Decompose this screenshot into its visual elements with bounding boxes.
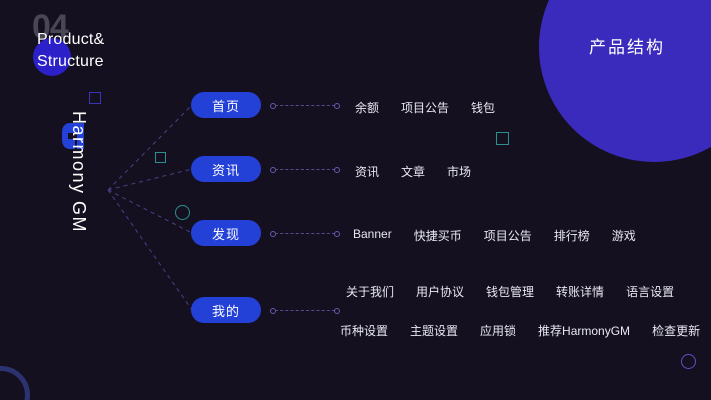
leaf-item[interactable]: Banner — [353, 227, 392, 244]
leaf-item[interactable]: 用户协议 — [416, 283, 464, 300]
section-heading: Product& Structure — [37, 29, 104, 73]
leaf-item[interactable]: 币种设置 — [340, 322, 388, 339]
leaf-item[interactable]: 游戏 — [612, 227, 636, 244]
connector-dot-end — [334, 308, 340, 314]
leaf-item[interactable]: 市场 — [447, 163, 471, 180]
tree-node-mine[interactable]: 我的 — [191, 297, 261, 323]
leaf-item[interactable]: 检查更新 — [652, 322, 700, 339]
leaf-item[interactable]: 资讯 — [355, 163, 379, 180]
square-outline-decoration-blue — [89, 92, 101, 104]
connector-news — [270, 165, 340, 174]
leaf-item[interactable]: 快捷买币 — [414, 227, 462, 244]
connector-dash — [275, 233, 335, 234]
leaf-item[interactable]: 应用锁 — [480, 322, 516, 339]
leaf-item[interactable]: 余额 — [355, 99, 379, 116]
leaf-item[interactable]: 钱包管理 — [486, 283, 534, 300]
leaf-row-home: 余额 项目公告 钱包 — [355, 99, 495, 116]
circle-outline-decoration-teal — [175, 205, 190, 220]
square-outline-decoration-teal-right — [496, 132, 509, 145]
connector-dash — [275, 169, 335, 170]
connector-dash — [275, 310, 335, 311]
leaf-item[interactable]: 主题设置 — [410, 322, 458, 339]
connector-discover — [270, 229, 340, 238]
connector-dot-end — [334, 231, 340, 237]
leaf-item[interactable]: 项目公告 — [484, 227, 532, 244]
square-outline-decoration-teal-left — [155, 152, 166, 163]
connector-dot-end — [334, 167, 340, 173]
leaf-item[interactable]: 文章 — [401, 163, 425, 180]
section-heading-line-2: Structure — [37, 51, 104, 73]
connector-home — [270, 101, 340, 110]
slide-canvas: 04 Product& Structure 产品结构 Harmony GM 首页… — [0, 0, 711, 400]
connector-dash — [275, 105, 335, 106]
tree-node-news[interactable]: 资讯 — [191, 156, 261, 182]
leaf-row-news: 资讯 文章 市场 — [355, 163, 471, 180]
leaf-item[interactable]: 语言设置 — [626, 283, 674, 300]
leaf-item[interactable]: 排行榜 — [554, 227, 590, 244]
slide-title: 产品结构 — [589, 33, 665, 58]
leaf-item[interactable]: 转账详情 — [556, 283, 604, 300]
connector-mine — [270, 306, 340, 315]
brand-name: Harmony GM — [68, 97, 89, 247]
circle-outline-decoration-bottom-right — [681, 354, 696, 369]
tree-node-discover[interactable]: 发现 — [191, 220, 261, 246]
leaf-item[interactable]: 关于我们 — [346, 283, 394, 300]
leaf-item[interactable]: 钱包 — [471, 99, 495, 116]
leaf-row-mine-line-2: 币种设置 主题设置 应用锁 推荐HarmonyGM 检查更新 — [340, 322, 700, 339]
circle-outline-decoration-bottom-left — [0, 366, 30, 400]
leaf-item[interactable]: 项目公告 — [401, 99, 449, 116]
connector-dot-end — [334, 103, 340, 109]
section-heading-line-1: Product& — [37, 29, 104, 51]
tree-node-home[interactable]: 首页 — [191, 92, 261, 118]
purple-blob-decoration — [539, 0, 711, 162]
leaf-row-mine-line-1: 关于我们 用户协议 钱包管理 转账详情 语言设置 — [346, 283, 674, 300]
leaf-item[interactable]: 推荐HarmonyGM — [538, 322, 630, 339]
leaf-row-discover: Banner 快捷买币 项目公告 排行榜 游戏 — [353, 227, 636, 244]
